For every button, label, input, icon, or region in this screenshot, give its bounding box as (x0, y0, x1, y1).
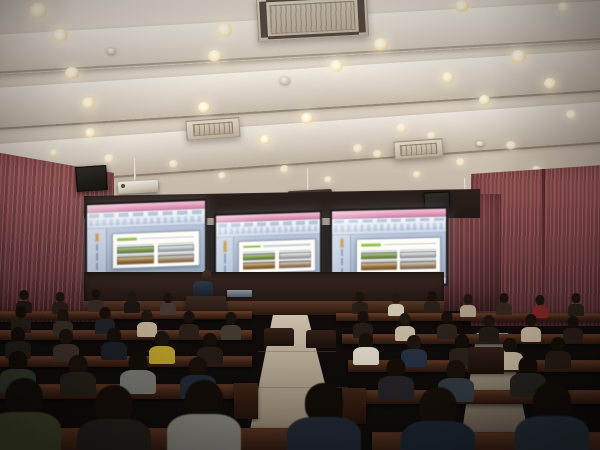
downlight (50, 149, 58, 156)
audience-member-foreground (510, 382, 594, 450)
ppt-thumbnail[interactable] (97, 233, 99, 241)
ppt-thumbnail-pane[interactable] (87, 228, 107, 275)
downlight (82, 97, 95, 109)
slide-photo-1 (242, 252, 275, 260)
ppt-thumbnail[interactable] (224, 241, 226, 251)
audience-member-foreground (162, 380, 246, 450)
downlight (280, 165, 289, 173)
ppt-thumbnail[interactable] (97, 253, 99, 261)
ppt-slide-stage (107, 225, 205, 275)
slide-photo-4 (158, 254, 195, 263)
ppt-thumbnail[interactable] (341, 249, 343, 256)
downlight (558, 2, 569, 12)
slide-canvas (112, 229, 200, 269)
ceiling-ac-unit-right (393, 138, 443, 160)
slide-photo-4 (278, 260, 311, 268)
downlight (65, 67, 79, 79)
slide-photo-4 (400, 261, 436, 269)
laptop (227, 290, 252, 297)
downlight (442, 72, 454, 83)
audience-member (564, 293, 588, 316)
downlight (85, 128, 96, 138)
ppt-thumbnail[interactable] (224, 253, 226, 263)
downlight (455, 0, 469, 12)
ceiling-ac-unit-left (185, 117, 240, 141)
downlight (198, 102, 210, 113)
ppt-thumbnail[interactable] (97, 262, 99, 270)
downlight (301, 113, 313, 124)
downlight (30, 3, 47, 18)
slide-photo-1 (117, 245, 154, 254)
audience-member (420, 291, 444, 314)
audience-member-foreground (396, 387, 480, 450)
audience-member-foreground (0, 378, 66, 450)
downlight (413, 171, 421, 178)
smoke-detector (107, 48, 116, 54)
wall-speaker-left (75, 165, 107, 192)
audience-member (492, 293, 516, 316)
slide-photo-1 (361, 252, 397, 260)
downlight (208, 50, 222, 62)
downlight (324, 176, 332, 183)
slide-photo-3 (242, 262, 275, 270)
slide-photo-2 (158, 244, 195, 253)
seat-back (306, 330, 336, 348)
downlight (479, 95, 490, 105)
slide-photo-3 (361, 262, 397, 270)
downlight (544, 78, 556, 89)
slide-canvas (237, 238, 315, 274)
ppt-thumbnail[interactable] (97, 243, 99, 251)
ceiling-ac-unit-center (256, 0, 369, 42)
downlight (456, 158, 465, 166)
ppt-thumbnail[interactable] (341, 239, 343, 246)
seat-back (264, 328, 294, 346)
projection-screen-left[interactable] (85, 198, 207, 283)
downlight (353, 144, 363, 153)
ppt-thumbnail[interactable] (341, 258, 343, 265)
audience-member-foreground (72, 385, 156, 450)
lecture-hall-photo (0, 0, 600, 450)
slide-photo-2 (400, 251, 436, 259)
downlight (53, 29, 68, 42)
presentation-slide (87, 200, 205, 281)
downlight (217, 23, 232, 37)
slide-photo-3 (117, 256, 154, 265)
slide-canvas (356, 237, 442, 275)
audience-member-foreground (282, 383, 366, 450)
slide-photo-2 (278, 251, 311, 259)
